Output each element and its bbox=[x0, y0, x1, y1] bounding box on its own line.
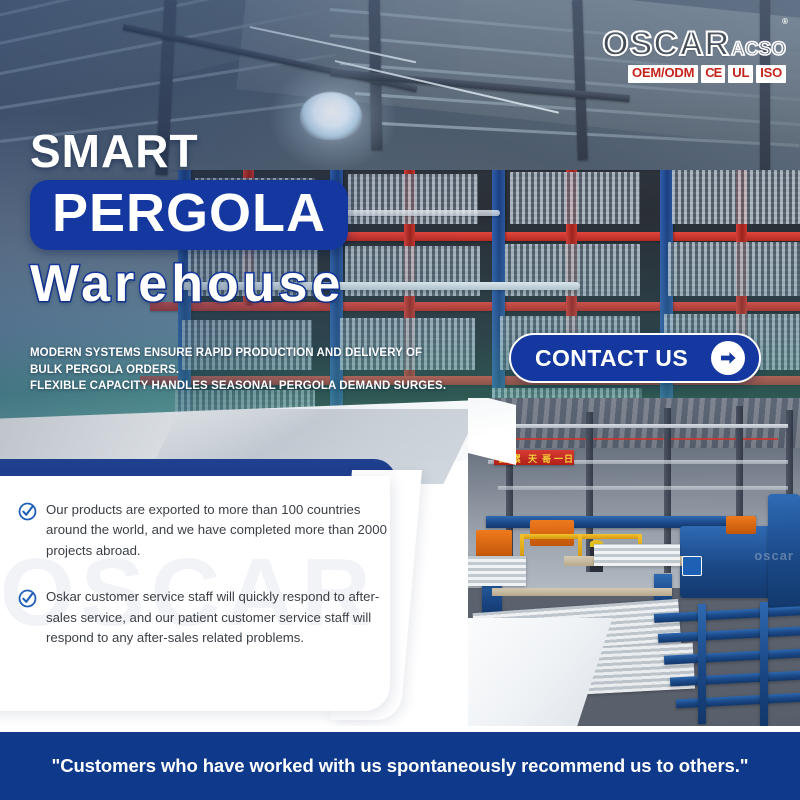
aluminum-profiles bbox=[510, 172, 640, 224]
list-item: Our products are exported to more than 1… bbox=[18, 500, 398, 561]
subtitle-line-2: BULK PERGOLA ORDERS. bbox=[30, 362, 450, 379]
badge-ce: CE bbox=[701, 65, 725, 83]
aluminum-profiles bbox=[672, 170, 800, 224]
logo-oscar-text: OSCAR bbox=[602, 27, 730, 61]
feature-text: Our products are exported to more than 1… bbox=[46, 500, 398, 561]
headline-line-warehouse: Warehouse bbox=[30, 258, 348, 310]
banner-root: OSCAR ACSO ® OEM/ODM CE UL ISO SMART PER… bbox=[0, 0, 800, 800]
feature-text: Oskar customer service staff will quickl… bbox=[46, 587, 398, 648]
certification-badges: OEM/ODM CE UL ISO bbox=[602, 65, 786, 83]
footer-banner: "Customers who have worked with us spont… bbox=[0, 732, 800, 800]
badge-iso: ISO bbox=[756, 65, 786, 83]
headline-line-smart: SMART bbox=[30, 128, 348, 174]
logo-acso-text: ACSO bbox=[731, 40, 786, 59]
hero-subtitle: MODERN SYSTEMS ENSURE RAPID PRODUCTION A… bbox=[30, 345, 450, 395]
subtitle-line-3: FLEXIBLE CAPACITY HANDLES SEASONAL PERGO… bbox=[30, 378, 450, 395]
badge-ul: UL bbox=[728, 65, 753, 83]
aluminum-profiles bbox=[668, 242, 800, 296]
contact-us-button[interactable]: CONTACT US bbox=[509, 333, 761, 383]
factory-production-image: 日 累 天 哥 一 日 bbox=[468, 398, 800, 728]
factory-white-notch-top bbox=[468, 398, 516, 465]
hero-headline: SMART PERGOLA Warehouse bbox=[30, 128, 348, 310]
registered-trademark-icon: ® bbox=[782, 18, 788, 26]
aluminum-profiles bbox=[348, 174, 478, 224]
footer-quote-text: "Customers who have worked with us spont… bbox=[52, 755, 749, 777]
arrow-right-icon bbox=[711, 341, 745, 375]
contact-us-label: CONTACT US bbox=[535, 345, 688, 372]
subtitle-line-1: MODERN SYSTEMS ENSURE RAPID PRODUCTION A… bbox=[30, 345, 450, 362]
badge-oem-odm: OEM/ODM bbox=[628, 65, 698, 83]
brand-logo: OSCAR ACSO ® OEM/ODM CE UL ISO bbox=[602, 27, 786, 83]
headline-pergola-badge: PERGOLA bbox=[30, 180, 348, 250]
logo-wordmark: OSCAR ACSO ® bbox=[602, 27, 786, 61]
feature-list: Our products are exported to more than 1… bbox=[18, 500, 398, 675]
headline-line-pergola: PERGOLA bbox=[52, 183, 326, 243]
check-circle-icon bbox=[18, 589, 37, 613]
check-circle-icon bbox=[18, 502, 37, 526]
list-item: Oskar customer service staff will quickl… bbox=[18, 587, 398, 648]
